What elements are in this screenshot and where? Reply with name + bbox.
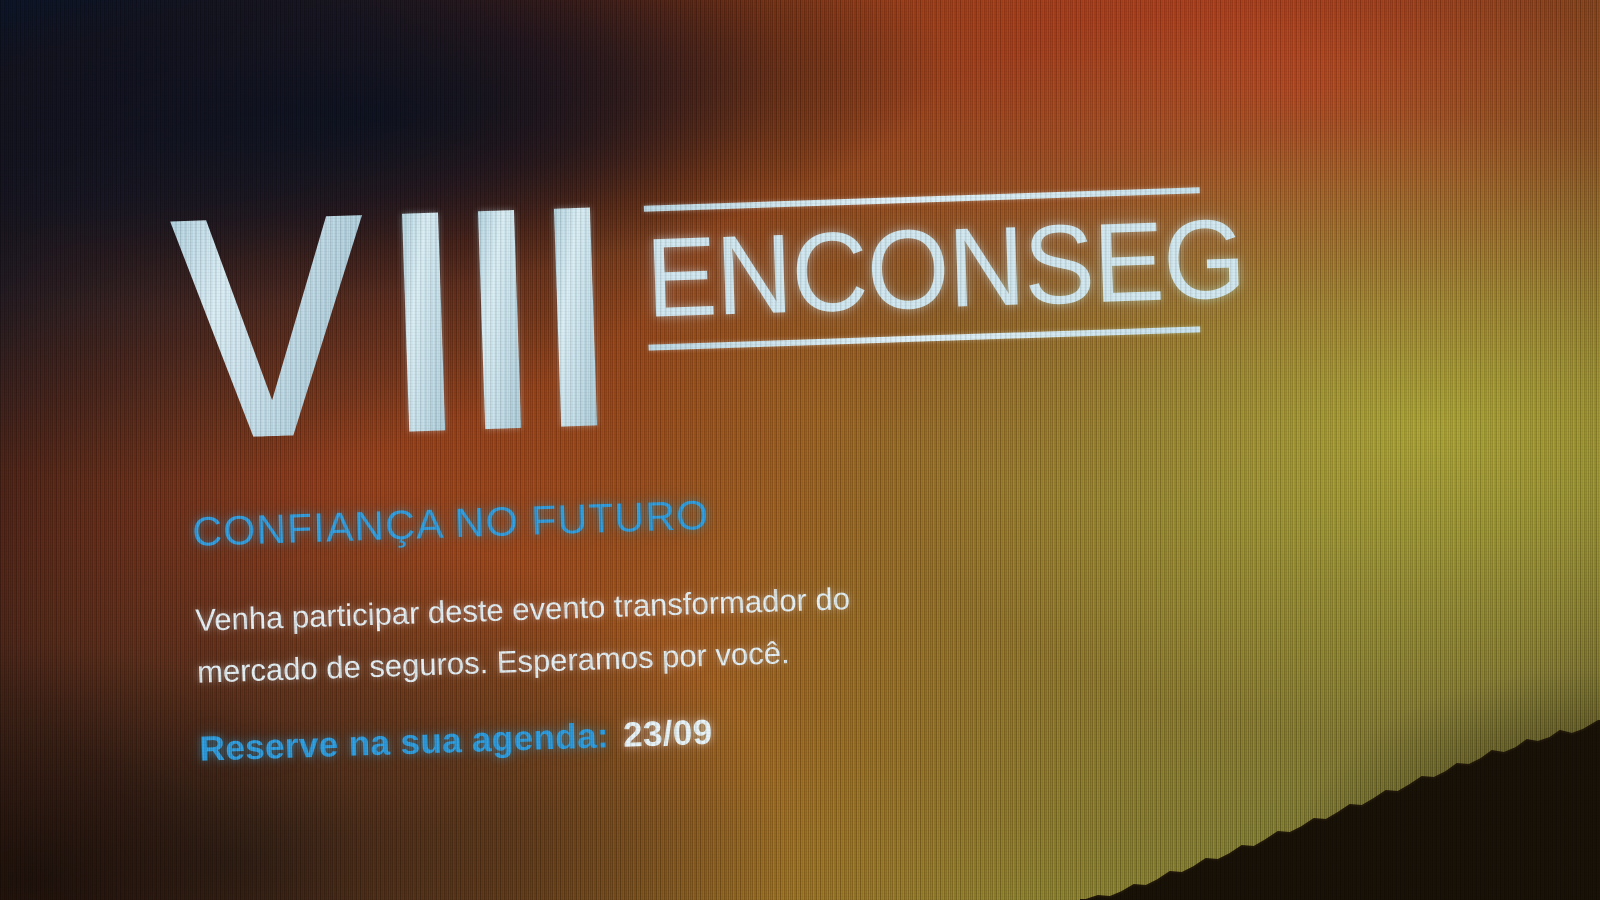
screen-pixel-grid-texture	[0, 0, 1600, 900]
projected-slide-photo: ENCONSEG CONFIANÇA NO FUTURO Venha parti…	[0, 0, 1600, 900]
